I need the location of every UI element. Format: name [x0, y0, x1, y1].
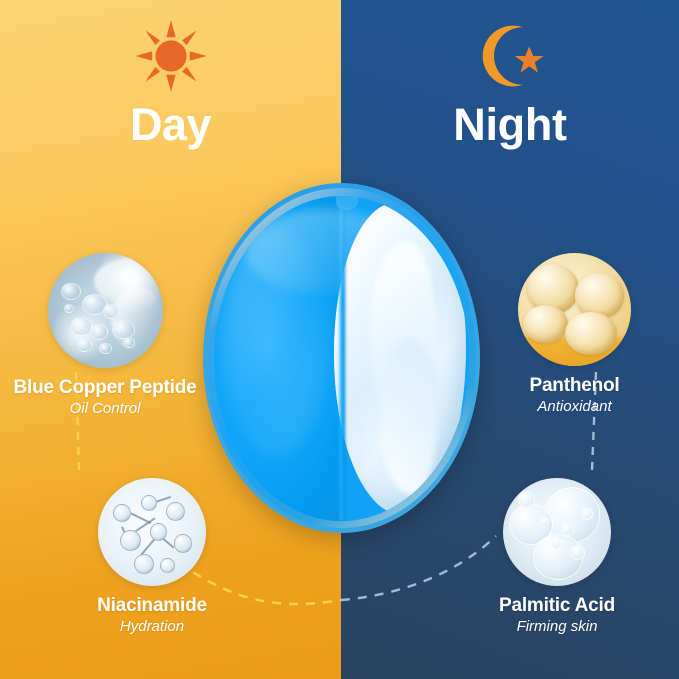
jar-chamber-divider	[338, 196, 347, 521]
ingredient-palmitic-acid[interactable]: Palmitic Acid Firming skin	[446, 478, 668, 635]
cream-swirl-bottom	[380, 339, 439, 495]
bubble-texture-swatch	[503, 478, 611, 586]
ingredient-name: Niacinamide	[44, 595, 260, 616]
ingredient-name: Palmitic Acid	[446, 595, 668, 616]
ingredient-name: Blue Copper Peptide	[0, 377, 210, 398]
night-header: Night	[341, 0, 679, 147]
day-header: Day	[0, 0, 341, 147]
sun-icon	[0, 0, 341, 90]
ingredient-benefit: Oil Control	[0, 400, 210, 417]
ingredient-niacinamide[interactable]: Niacinamide Hydration	[44, 478, 260, 635]
infographic-canvas: Day Night	[0, 0, 679, 679]
gel-texture-swatch	[48, 253, 163, 368]
jar-contents	[214, 196, 469, 521]
ingredient-benefit: Antioxidant	[470, 398, 679, 415]
ingredient-blue-copper-peptide[interactable]: Blue Copper Peptide Oil Control	[0, 253, 210, 417]
ingredient-benefit: Firming skin	[446, 618, 668, 635]
night-title: Night	[341, 102, 679, 147]
day-title: Day	[0, 102, 341, 147]
ingredient-benefit: Hydration	[44, 618, 260, 635]
moon-star-icon	[341, 0, 679, 90]
jar-cream-chamber	[342, 196, 470, 521]
ingredient-panthenol[interactable]: Panthenol Antioxidant	[470, 253, 679, 415]
molecule-texture-swatch	[98, 478, 206, 586]
ingredient-name: Panthenol	[470, 375, 679, 396]
oil-capsule-texture-swatch	[518, 253, 631, 366]
